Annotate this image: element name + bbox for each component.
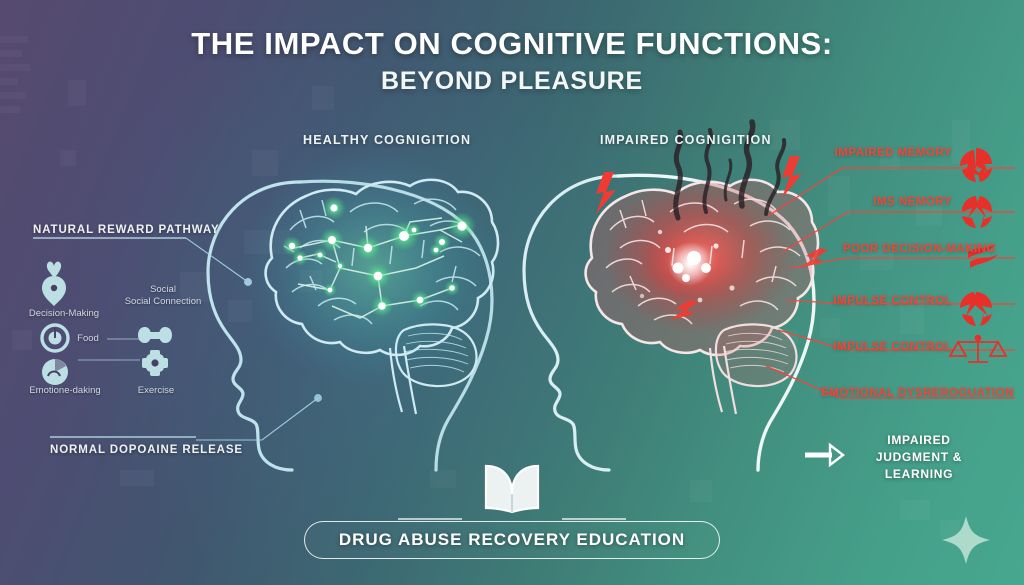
summary-line-2: JUDGMENT & LEARNING (876, 450, 962, 481)
exercise-icon (142, 350, 168, 376)
footer-badge: DRUG ABUSE RECOVERY EDUCATION (0, 521, 1024, 559)
summary-line-1: IMPAIRED (887, 433, 950, 447)
reward-label-social-connection: SocialSocial Connection (108, 284, 218, 308)
impaired-label-emotional-dysregulation: EMOTIONAL DYSREROGUATION (821, 387, 1014, 399)
impaired-icons (950, 148, 1006, 362)
reward-label-exercise: Exercise (120, 385, 192, 396)
lightning-bolts (596, 156, 828, 320)
label-natural-reward-pathway: NATURAL REWARD PATHWAY (33, 224, 220, 236)
label-normal-dopamine-release: NORMAL DOPOAINE RELEASE (50, 444, 243, 456)
page-title: THE IMPACT ON COGNITIVE FUNCTIONS: (0, 26, 1024, 62)
brand-badge-text: DRUG ABUSE RECOVERY EDUCATION (304, 521, 720, 559)
dumbbell-icon (138, 327, 172, 343)
arrow-right-icon (805, 445, 843, 465)
clock-food-icon (42, 325, 68, 351)
scales-icon (950, 336, 1006, 362)
impaired-label-ims-nemory: IMS NEMORY (873, 196, 952, 208)
title-block: THE IMPACT ON COGNITIVE FUNCTIONS: BEYON… (0, 26, 1024, 96)
page-subtitle: BEYOND PLEASURE (0, 67, 1024, 96)
impaired-label-impulse-2: IMPULSE CONTROL (833, 341, 952, 353)
healthy-network-nodes (282, 196, 476, 317)
section-heading-impaired: IMPAIRED COGNIGITION (600, 133, 772, 147)
section-heading-healthy: HEALTHY COGNIGITION (303, 133, 471, 147)
emotion-pie-icon (42, 359, 68, 385)
impaired-label-impulse-1: IMPULSE CONTROL (833, 295, 952, 307)
open-book-icon (486, 466, 538, 512)
heart-decision-icon (42, 262, 66, 306)
broken-circle-icon (960, 148, 992, 182)
impaired-label-poor-decision: POOR DECISION-MAKING (843, 243, 996, 255)
impaired-judgment-learning-summary: IMPAIRED JUDGMENT & LEARNING (844, 432, 994, 483)
reward-label-food: Food (68, 333, 108, 344)
reward-label-emotions: Emotione-daking (12, 385, 118, 396)
reward-label-decision-making: Decision-Making (18, 308, 110, 319)
impaired-label-memory: IMPAIRED MEMORY (835, 147, 952, 159)
reward-icons (42, 262, 172, 385)
cracked-circle-icon (962, 196, 992, 228)
infographic-poster: THE IMPACT ON COGNITIVE FUNCTIONS: BEYON… (0, 0, 1024, 585)
broken-bolt-circle-icon (960, 292, 992, 326)
